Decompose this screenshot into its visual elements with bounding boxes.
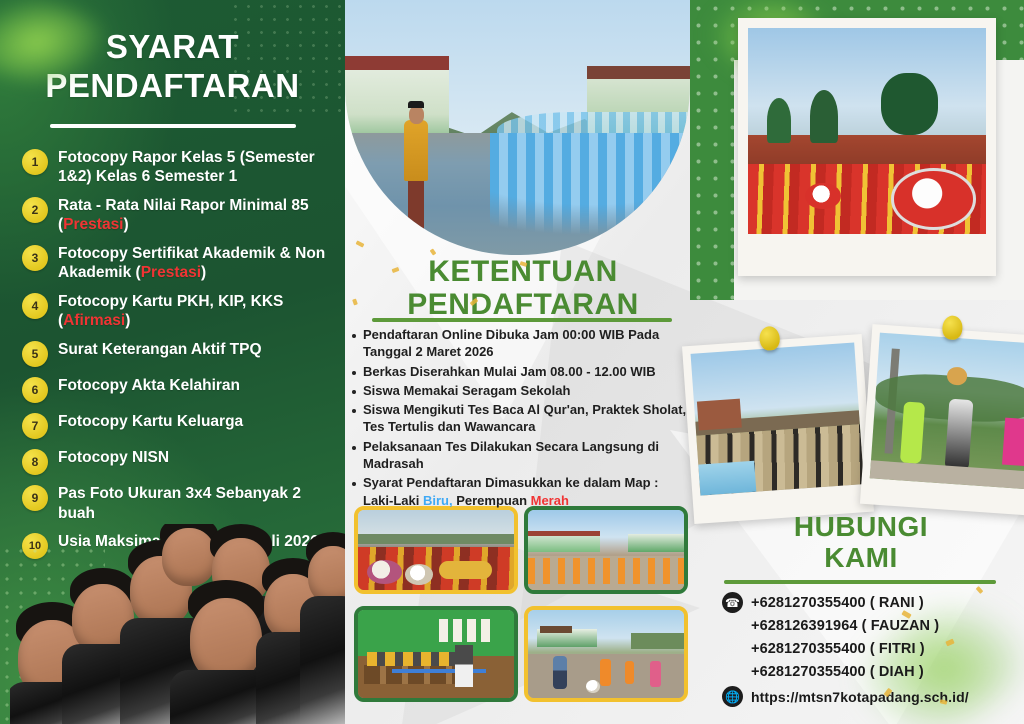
title-rule bbox=[50, 124, 296, 128]
requirements-list: 1 Fotocopy Rapor Kelas 5 (Semester 1&2) … bbox=[0, 148, 345, 559]
phone-icon: ☎ bbox=[722, 592, 743, 613]
list-item: 8 Fotocopy NISN bbox=[22, 448, 331, 475]
photo-speaker-body bbox=[404, 120, 428, 181]
hubungi-heading: HUBUNGI KAMI bbox=[716, 512, 1006, 574]
photo-traditional-music bbox=[354, 506, 518, 594]
item-number-badge: 3 bbox=[22, 245, 48, 271]
requirement-text: Fotocopy Sertifikat Akademik & Non Akade… bbox=[58, 244, 331, 283]
item-number-badge: 9 bbox=[22, 485, 48, 511]
spacer-icon bbox=[722, 661, 743, 682]
requirement-text: Fotocopy Kartu PKH, KIP, KKS (Afirmasi) bbox=[58, 292, 331, 331]
list-item: Pelaksanaan Tes Dilakukan Secara Langsun… bbox=[348, 438, 688, 473]
photo-speaker-cap bbox=[408, 101, 424, 109]
photo-marching-band bbox=[748, 28, 986, 234]
photo-volleyball-frame bbox=[860, 324, 1024, 516]
hubungi-line1: HUBUNGI bbox=[716, 512, 1006, 543]
photo-scouts-frame bbox=[682, 334, 874, 524]
bullet-dot-icon bbox=[352, 446, 356, 450]
contact-row-website[interactable]: 🌐 https://mtsn7kotapadang.sch.id/ bbox=[722, 686, 1022, 707]
requirements-panel: SYARAT PENDAFTARAN 1 Fotocopy Rapor Kela… bbox=[0, 0, 345, 724]
list-item: Berkas Diserahkan Mulai Jam 08.00 - 12.0… bbox=[348, 363, 688, 380]
dot-pattern bbox=[229, 0, 345, 120]
ketentuan-line2: PENDAFTARAN bbox=[358, 288, 688, 321]
bullet-dot-icon bbox=[352, 409, 356, 413]
poster-canvas: KETENTUAN PENDAFTARAN Pendaftaran Online… bbox=[0, 0, 1024, 724]
globe-icon: 🌐 bbox=[722, 686, 743, 707]
ketentuan-bullet-list: Pendaftaran Online Dibuka Jam 00:00 WIB … bbox=[348, 326, 688, 511]
list-item: 7 Fotocopy Kartu Keluarga bbox=[22, 412, 331, 439]
photo-speaker-head bbox=[409, 106, 423, 124]
photo-orange-uniform bbox=[524, 506, 688, 594]
requirement-text: Rata - Rata Nilai Rapor Minimal 85 (Pres… bbox=[58, 196, 331, 235]
contact-list: ☎ +6281270355400 ( RANI ) +628126391964 … bbox=[722, 592, 1022, 709]
contact-row-phone-1[interactable]: ☎ +6281270355400 ( RANI ) bbox=[722, 592, 1022, 613]
photo-crowd-front bbox=[490, 133, 690, 235]
list-item: 6 Fotocopy Akta Kelahiran bbox=[22, 376, 331, 403]
list-item: 9 Pas Foto Ukuran 3x4 Sebanyak 2 buah bbox=[22, 484, 331, 523]
item-number-badge: 8 bbox=[22, 449, 48, 475]
bullet-dot-icon bbox=[352, 390, 356, 394]
photo-classroom bbox=[354, 606, 518, 702]
photo-marching-band-frame bbox=[738, 18, 996, 276]
hubungi-line2: KAMI bbox=[716, 543, 1006, 574]
list-item: Pendaftaran Online Dibuka Jam 00:00 WIB … bbox=[348, 326, 688, 361]
photo-football bbox=[524, 606, 688, 702]
photo-assembly bbox=[345, 0, 690, 255]
bullet-dot-icon bbox=[352, 334, 356, 338]
hubungi-rule bbox=[724, 580, 996, 584]
item-number-badge: 1 bbox=[22, 149, 48, 175]
spacer-icon bbox=[722, 615, 743, 636]
ketentuan-line1: KETENTUAN bbox=[358, 255, 688, 288]
photo-speaker-legs bbox=[408, 179, 424, 235]
item-number-badge: 4 bbox=[22, 293, 48, 319]
list-item: 3 Fotocopy Sertifikat Akademik & Non Aka… bbox=[22, 244, 331, 283]
contact-row-phone-4[interactable]: +6281270355400 ( DIAH ) bbox=[722, 661, 1022, 682]
item-number-badge: 5 bbox=[22, 341, 48, 367]
list-item: 1 Fotocopy Rapor Kelas 5 (Semester 1&2) … bbox=[22, 148, 331, 187]
photo-scouts bbox=[691, 342, 865, 495]
bullet-dot-icon bbox=[352, 482, 356, 486]
contact-row-phone-3[interactable]: +6281270355400 ( FITRI ) bbox=[722, 638, 1022, 659]
map-color-note: Syarat Pendaftaran Dimasukkan ke dalam M… bbox=[363, 474, 688, 509]
pushpin-icon bbox=[942, 315, 964, 340]
list-item: Siswa Memakai Seragam Sekolah bbox=[348, 382, 688, 399]
list-item: 5 Surat Keterangan Aktif TPQ bbox=[22, 340, 331, 367]
list-item: Siswa Mengikuti Tes Baca Al Qur'an, Prak… bbox=[348, 401, 688, 436]
photo-volleyball bbox=[870, 333, 1024, 490]
contact-row-phone-2[interactable]: +628126391964 ( FAUZAN ) bbox=[722, 615, 1022, 636]
list-item: Syarat Pendaftaran Dimasukkan ke dalam M… bbox=[348, 474, 688, 509]
item-number-badge: 7 bbox=[22, 413, 48, 439]
bullet-dot-icon bbox=[352, 371, 356, 375]
spacer-icon bbox=[722, 638, 743, 659]
ketentuan-rule bbox=[372, 318, 672, 322]
item-number-badge: 2 bbox=[22, 197, 48, 223]
photo-students-selfie bbox=[10, 524, 345, 724]
item-number-badge: 6 bbox=[22, 377, 48, 403]
list-item: 2 Rata - Rata Nilai Rapor Minimal 85 (Pr… bbox=[22, 196, 331, 235]
list-item: 4 Fotocopy Kartu PKH, KIP, KKS (Afirmasi… bbox=[22, 292, 331, 331]
